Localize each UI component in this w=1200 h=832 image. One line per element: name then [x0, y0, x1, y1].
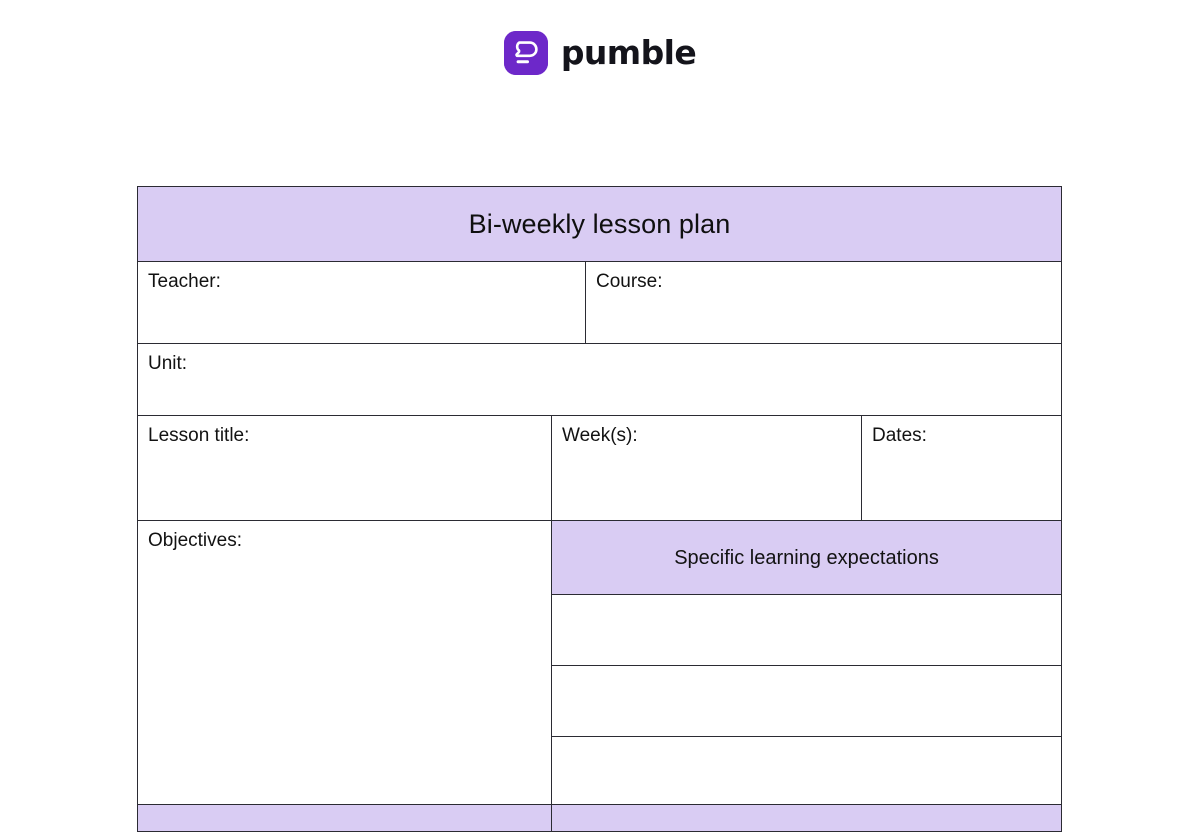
expectation-entries-cell	[552, 595, 1062, 805]
unit-label: Unit:	[138, 344, 1061, 375]
table-row-unit: Unit:	[138, 344, 1062, 416]
course-cell[interactable]: Course:	[586, 262, 1062, 344]
expectation-value-2	[552, 666, 1061, 675]
pumble-speech-bubble-icon	[504, 31, 548, 75]
page-title: Bi-weekly lesson plan	[138, 211, 1061, 238]
dates-label: Dates:	[862, 416, 1061, 447]
expectation-row-3[interactable]	[552, 737, 1061, 804]
brand-header: pumble	[0, 0, 1200, 145]
document-title-cell: Bi-weekly lesson plan	[138, 187, 1062, 262]
weeks-cell[interactable]: Week(s):	[552, 416, 862, 521]
objectives-label: Objectives:	[138, 521, 551, 552]
next-section-left-cell	[138, 805, 552, 832]
course-label: Course:	[586, 262, 1061, 293]
weeks-label: Week(s):	[552, 416, 861, 447]
list-item[interactable]	[552, 737, 1061, 804]
unit-cell[interactable]: Unit:	[138, 344, 1062, 416]
list-item[interactable]	[552, 666, 1061, 737]
expectation-row-2[interactable]	[552, 666, 1061, 737]
table-row-objectives-expectations-header: Objectives: Specific learning expectatio…	[138, 521, 1062, 595]
table-row-next-section-partial	[138, 805, 1062, 832]
specific-learning-expectations-header: Specific learning expectations	[552, 548, 1061, 568]
expectation-value-3	[552, 737, 1061, 746]
expectation-value-1	[552, 595, 1061, 604]
lesson-plan-table: Bi-weekly lesson plan Teacher: Course: U…	[137, 186, 1062, 832]
table-row-teacher-course: Teacher: Course:	[138, 262, 1062, 344]
pumble-logo-lockup[interactable]: pumble	[504, 31, 696, 75]
table-row-title: Bi-weekly lesson plan	[138, 187, 1062, 262]
teacher-label: Teacher:	[138, 262, 585, 293]
table-row-lesson-weeks-dates: Lesson title: Week(s): Dates:	[138, 416, 1062, 521]
lesson-title-cell[interactable]: Lesson title:	[138, 416, 552, 521]
teacher-cell[interactable]: Teacher:	[138, 262, 586, 344]
list-item[interactable]	[552, 595, 1061, 666]
lesson-plan-table-container: Bi-weekly lesson plan Teacher: Course: U…	[137, 186, 1061, 832]
objectives-cell[interactable]: Objectives:	[138, 521, 552, 805]
pumble-wordmark: pumble	[561, 36, 696, 69]
specific-learning-expectations-header-cell: Specific learning expectations	[552, 521, 1062, 595]
expectation-row-1[interactable]	[552, 595, 1061, 666]
next-section-right-cell	[552, 805, 1062, 832]
expectation-subgrid	[552, 595, 1061, 803]
dates-cell[interactable]: Dates:	[862, 416, 1062, 521]
lesson-title-label: Lesson title:	[138, 416, 551, 447]
